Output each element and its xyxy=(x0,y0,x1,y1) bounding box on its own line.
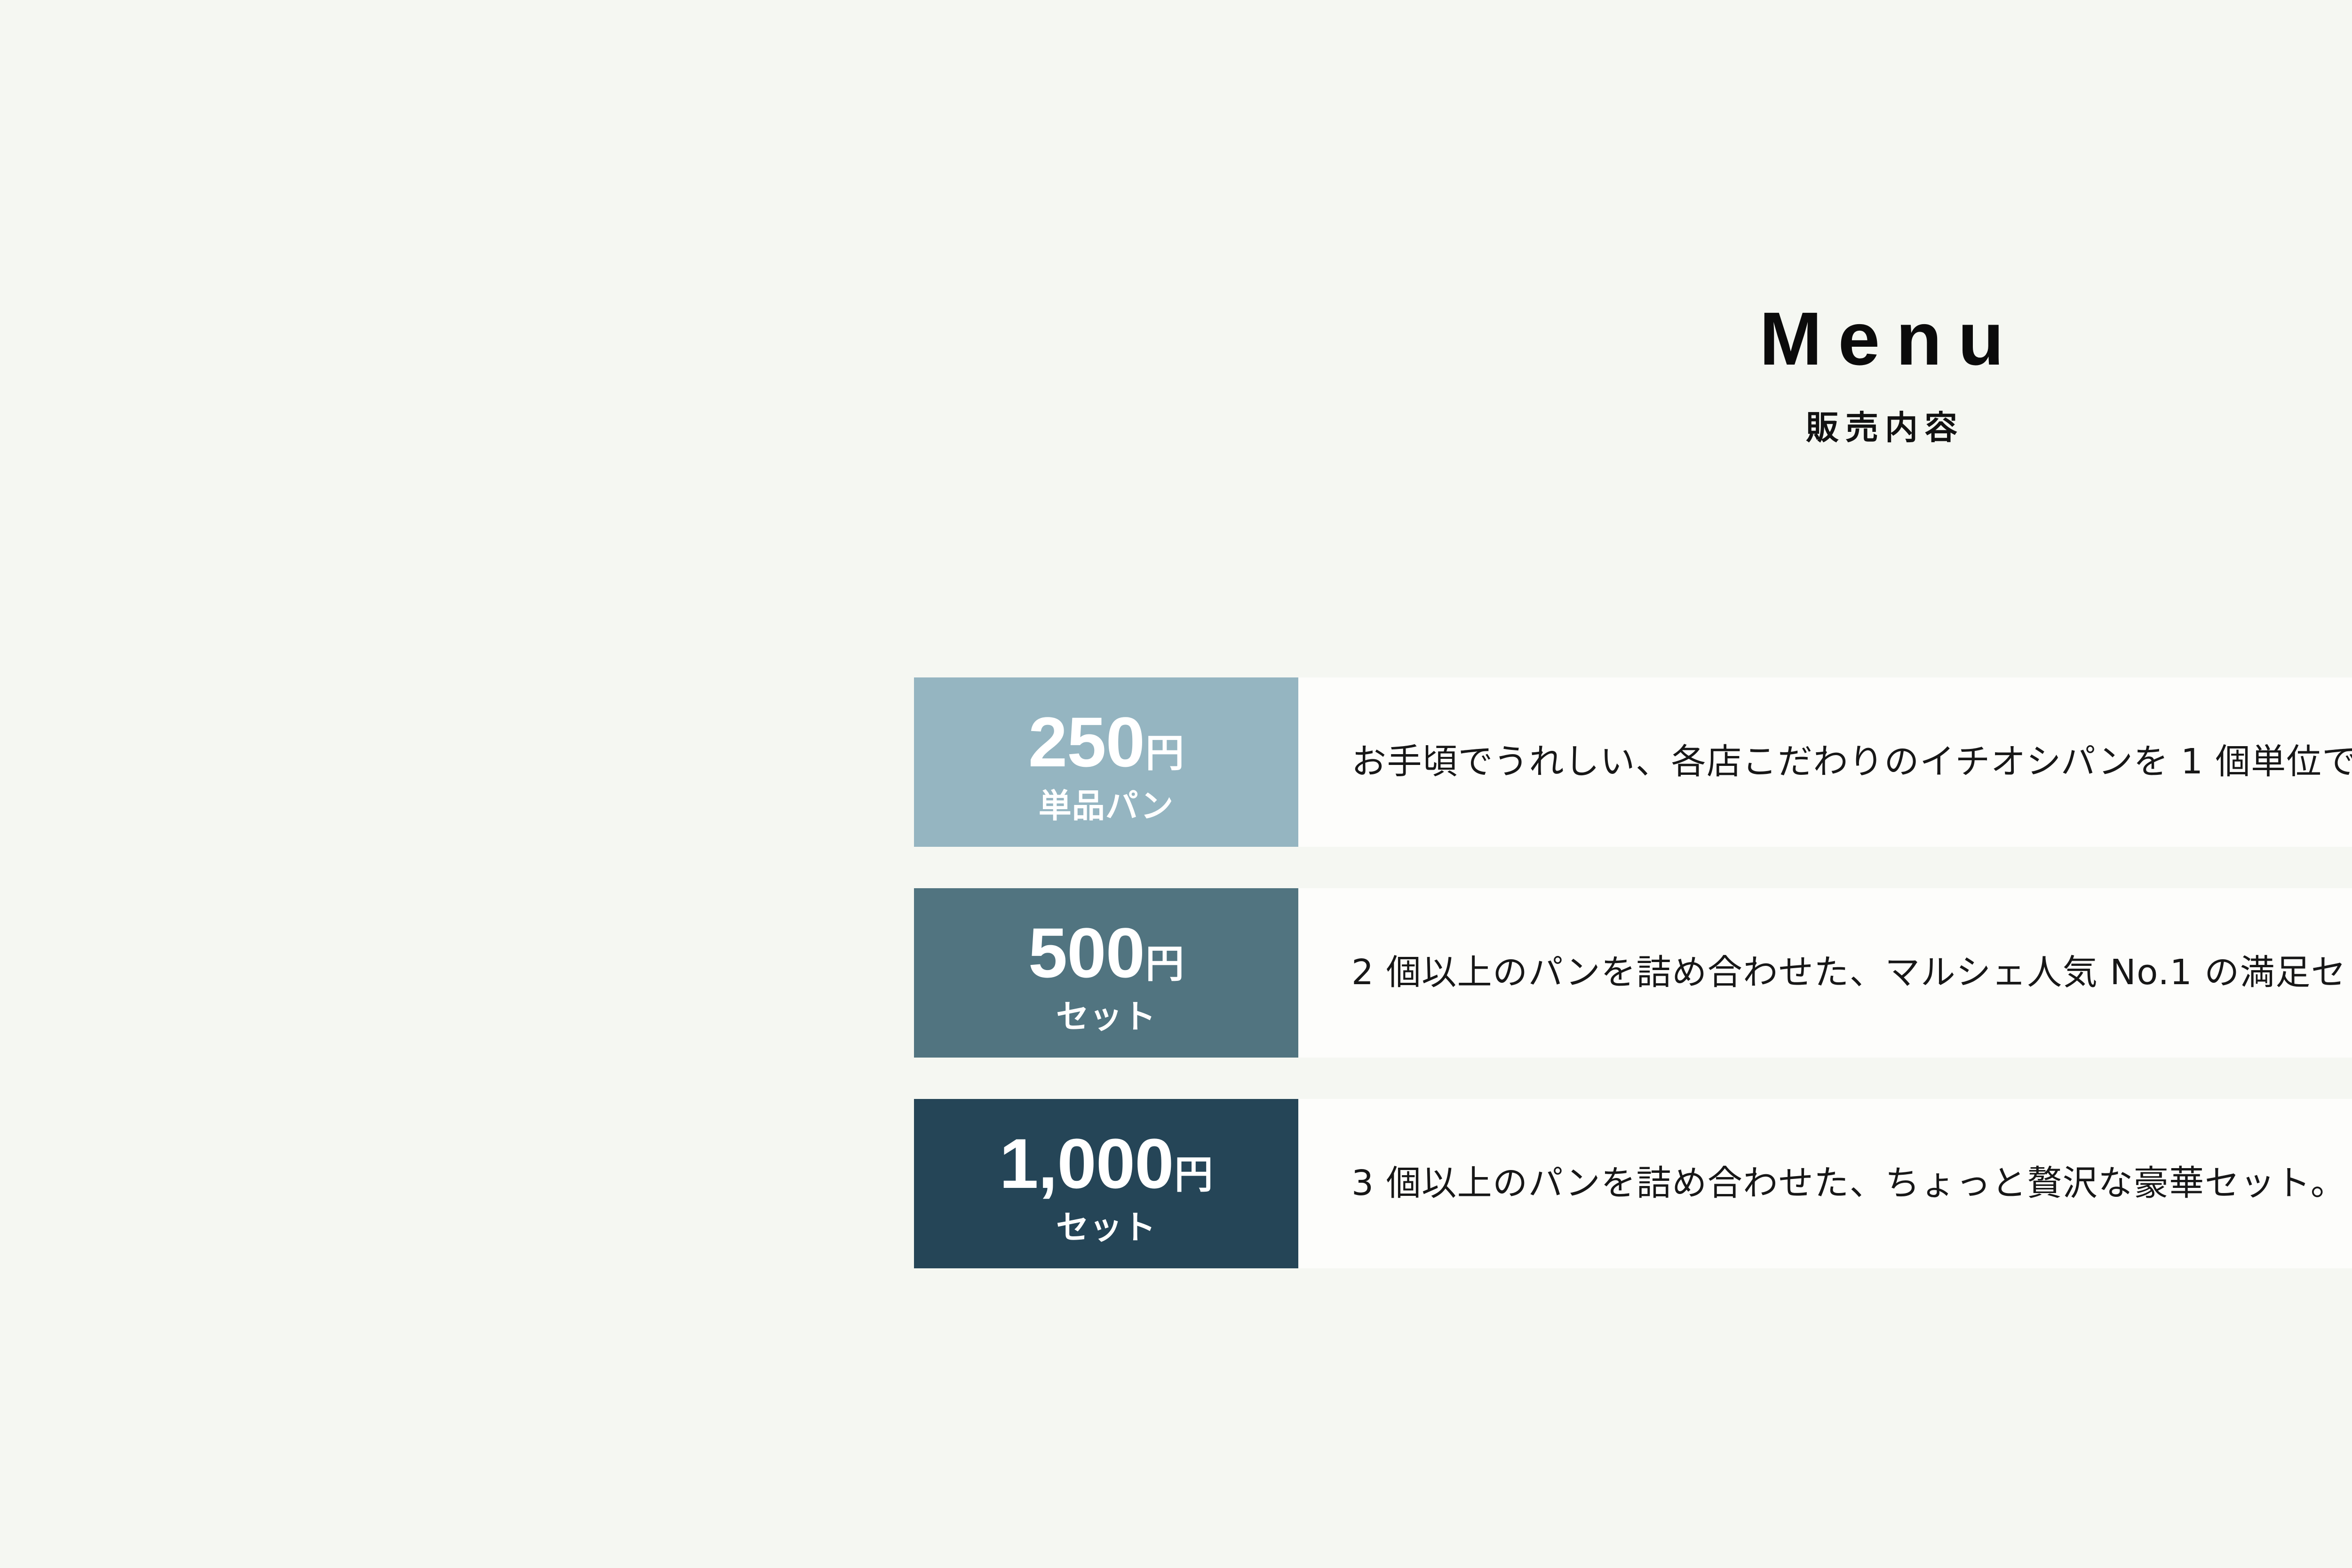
price-sublabel: セット xyxy=(1056,1211,1156,1244)
menu-list: 250 円 単品パン お手頃でうれしい、各店こだわりのイチオシパンを 1 個単位… xyxy=(914,677,2352,1268)
menu-description-text: 3 個以上のパンを詰め合わせた、ちょっと贅沢な豪華セット。 xyxy=(1351,1158,2346,1209)
price-unit: 円 xyxy=(1145,945,1184,984)
menu-description: 3 個以上のパンを詰め合わせた、ちょっと贅沢な豪華セット。 xyxy=(1298,1099,2352,1268)
price-card: 1,000 円 セット xyxy=(914,1099,1298,1268)
price-unit: 円 xyxy=(1145,734,1184,773)
price-card: 500 円 セット xyxy=(914,888,1298,1058)
menu-description-text: お手頃でうれしい、各店こだわりのイチオシパンを 1 個単位で販売。 xyxy=(1351,737,2352,787)
menu-row: 250 円 単品パン お手頃でうれしい、各店こだわりのイチオシパンを 1 個単位… xyxy=(914,677,2352,847)
menu-description: 2 個以上のパンを詰め合わせた、マルシェ人気 No.1 の満足セット。 xyxy=(1298,888,2352,1058)
price-sublabel: 単品パン xyxy=(1039,789,1174,822)
price-amount: 250 xyxy=(1028,707,1144,777)
price-line: 1,000 円 xyxy=(999,1128,1213,1199)
page-subtitle: 販売内容 xyxy=(0,411,2352,444)
price-amount: 500 xyxy=(1028,917,1144,988)
page-title: Menu xyxy=(0,301,2352,376)
price-line: 250 円 xyxy=(1028,707,1184,777)
menu-row: 500 円 セット 2 個以上のパンを詰め合わせた、マルシェ人気 No.1 の満… xyxy=(914,888,2352,1058)
price-line: 500 円 xyxy=(1028,917,1184,988)
menu-description-text: 2 個以上のパンを詰め合わせた、マルシェ人気 No.1 の満足セット。 xyxy=(1351,947,2352,998)
page-heading: Menu 販売内容 xyxy=(0,301,2352,444)
menu-description: お手頃でうれしい、各店こだわりのイチオシパンを 1 個単位で販売。 xyxy=(1298,677,2352,847)
price-sublabel: セット xyxy=(1056,1000,1156,1033)
price-amount: 1,000 xyxy=(999,1128,1173,1199)
menu-page: Menu 販売内容 250 円 単品パン お手頃でうれしい、各店こだわりのイチオ… xyxy=(0,0,2352,1568)
price-card: 250 円 単品パン xyxy=(914,677,1298,847)
menu-row: 1,000 円 セット 3 個以上のパンを詰め合わせた、ちょっと贅沢な豪華セット… xyxy=(914,1099,2352,1268)
price-unit: 円 xyxy=(1175,1156,1213,1194)
